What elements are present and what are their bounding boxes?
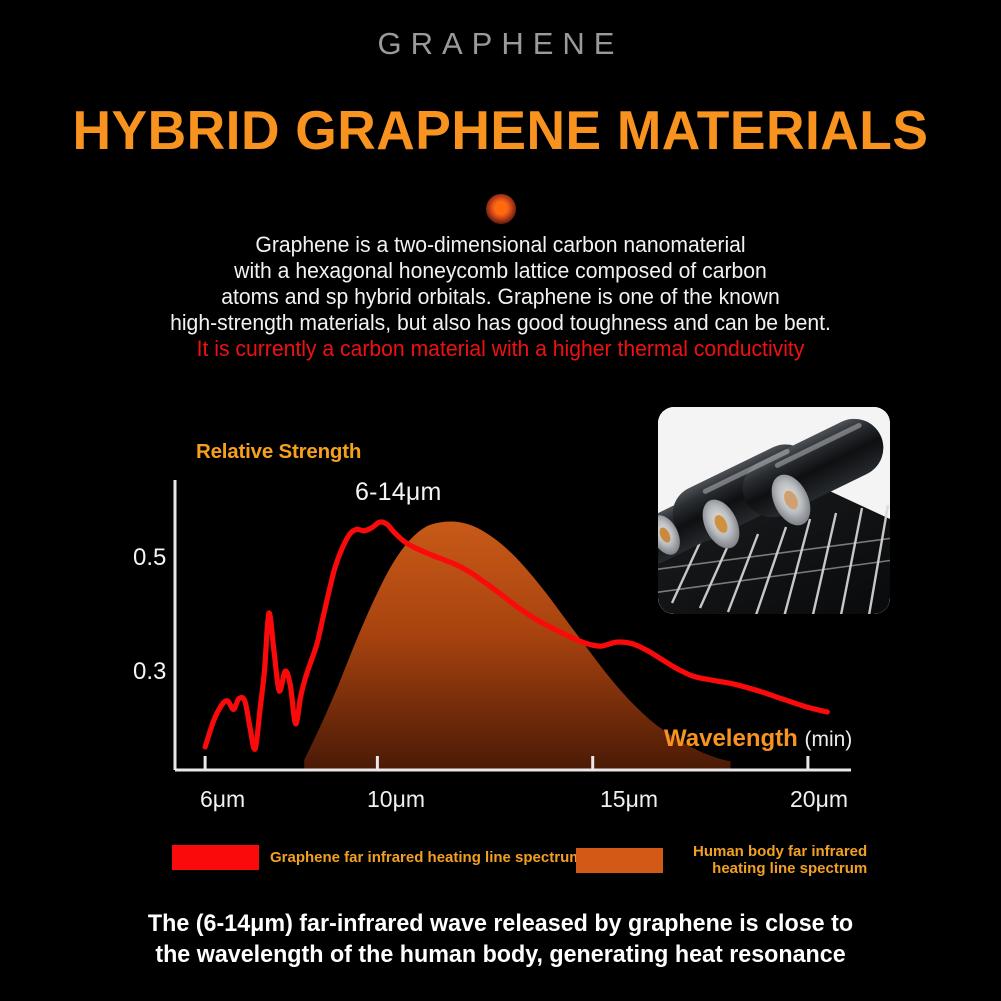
legend-label-graphene: Graphene far infrared heating line spect… bbox=[270, 849, 583, 866]
legend-label-human-body: Human body far infrared heating line spe… bbox=[693, 843, 867, 877]
legend-item-graphene: Graphene far infrared heating line spect… bbox=[172, 845, 583, 870]
x-axis-title-main: Wavelength bbox=[664, 725, 798, 752]
x-tick-label-0: 6μm bbox=[200, 786, 245, 813]
page-title: HYBRID GRAPHENE MATERIALS bbox=[15, 98, 986, 162]
footer-caption-line-2: the wavelength of the human body, genera… bbox=[15, 939, 986, 970]
y-tick-label-0: 0.5 bbox=[133, 544, 166, 572]
y-axis-title: Relative Strength bbox=[196, 440, 361, 464]
x-tick-label-1: 10μm bbox=[367, 786, 425, 813]
intro-line-3: atoms and sp hybrid orbitals. Graphene i… bbox=[30, 284, 971, 310]
footer-caption-line-1: The (6-14μm) far-infrared wave released … bbox=[15, 908, 986, 939]
legend-item-human-body: Human body far infrared heating line spe… bbox=[576, 843, 867, 877]
chart-legend: Graphene far infrared heating line spect… bbox=[0, 843, 1001, 889]
band-annotation: 6-14μm bbox=[355, 478, 441, 507]
intro-paragraph: Graphene is a two-dimensional carbon nan… bbox=[30, 232, 971, 362]
x-tick-label-3: 20μm bbox=[790, 786, 848, 813]
intro-line-4: high-strength materials, but also has go… bbox=[30, 310, 971, 336]
x-axis-title-unit: (min) bbox=[804, 728, 852, 751]
product-photo-inset bbox=[658, 407, 890, 614]
y-tick-label-1: 0.3 bbox=[133, 658, 166, 686]
x-tick-label-2: 15μm bbox=[600, 786, 658, 813]
glow-dot-inner bbox=[495, 203, 507, 215]
glow-dot-outer bbox=[486, 194, 516, 224]
intro-line-5-highlight: It is currently a carbon material with a… bbox=[30, 336, 971, 362]
legend-swatch-human-body bbox=[576, 848, 663, 873]
glow-dot-decoration bbox=[0, 192, 1001, 226]
footer-caption: The (6-14μm) far-infrared wave released … bbox=[15, 908, 986, 970]
heating-film-rolls-illustration bbox=[658, 407, 890, 614]
intro-line-1: Graphene is a two-dimensional carbon nan… bbox=[30, 232, 971, 258]
x-axis-title: Wavelength (min) bbox=[664, 725, 852, 753]
intro-line-2: with a hexagonal honeycomb lattice compo… bbox=[30, 258, 971, 284]
eyebrow-title: GRAPHENE bbox=[0, 26, 1001, 62]
legend-swatch-graphene bbox=[172, 845, 259, 870]
poster-root: GRAPHENE HYBRID GRAPHENE MATERIALS Graph… bbox=[0, 0, 1001, 1001]
